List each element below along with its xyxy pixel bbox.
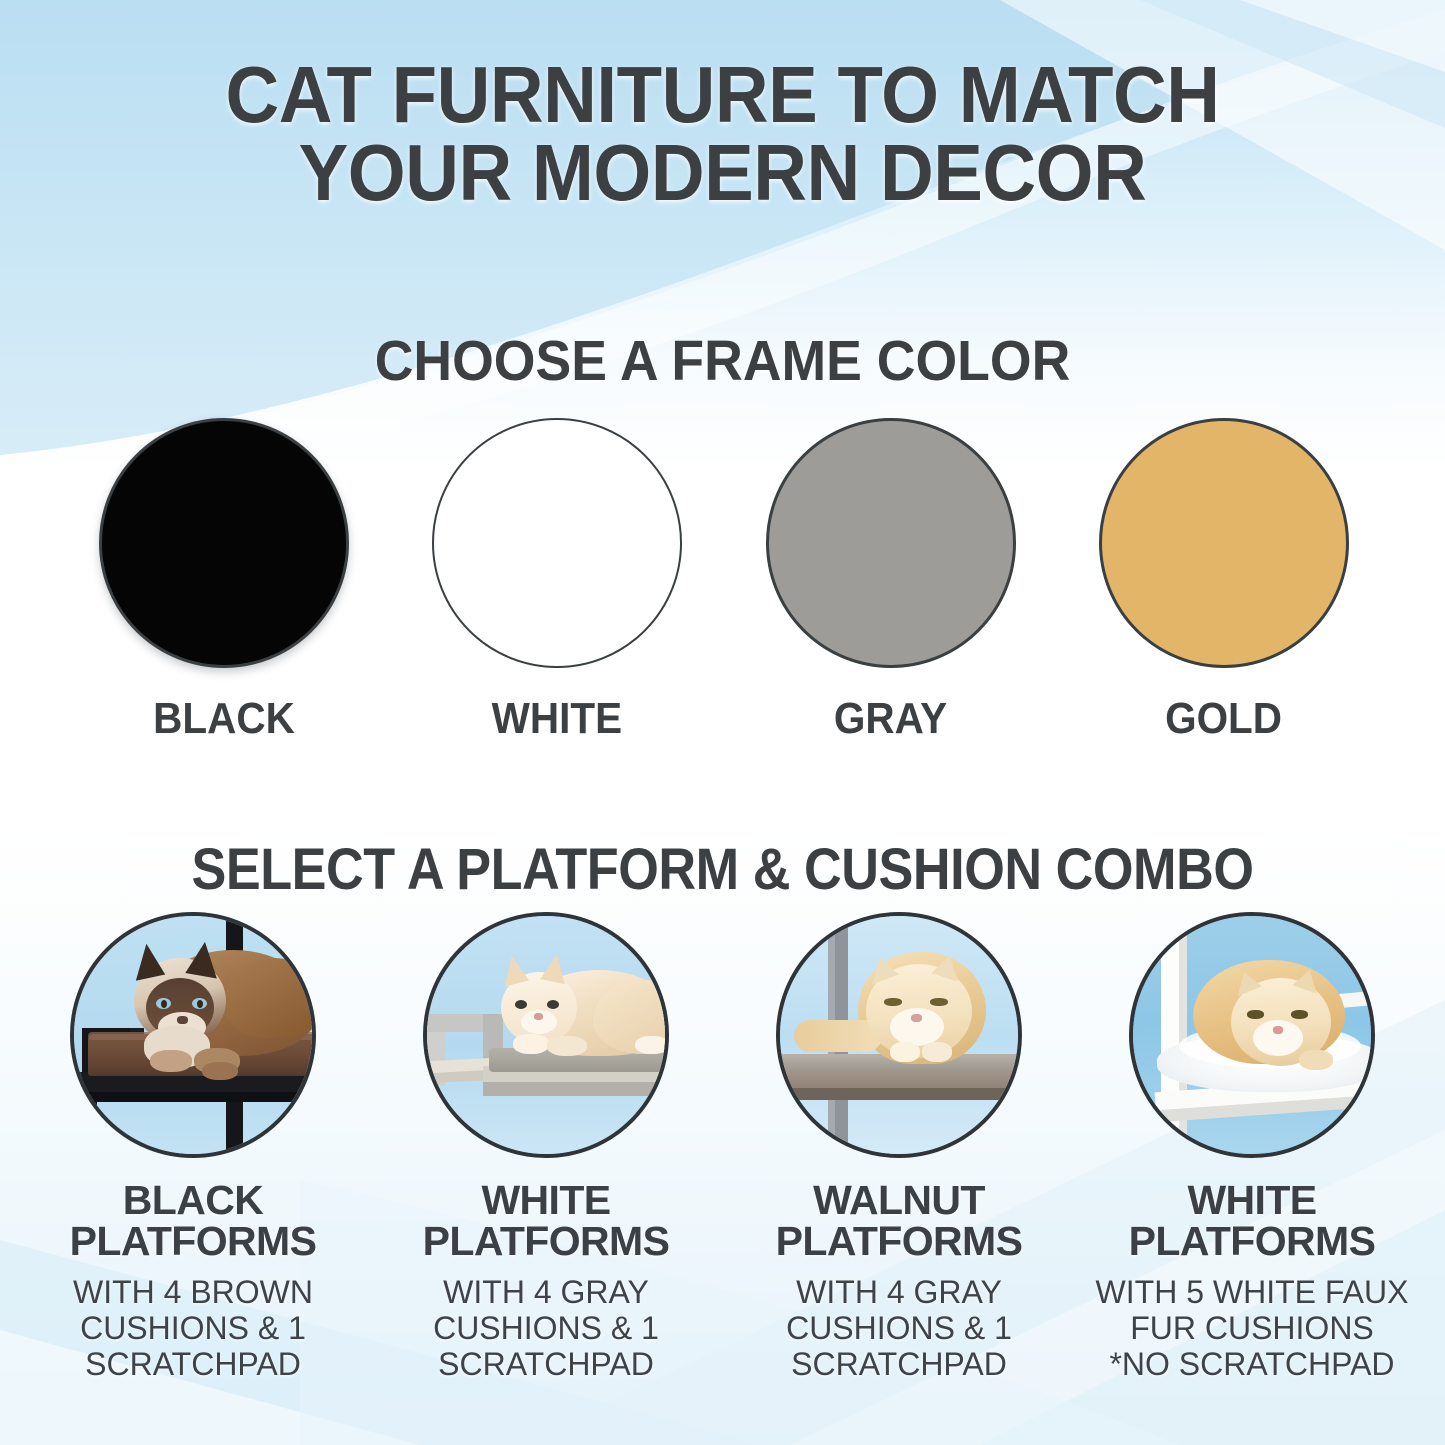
photo-black-platforms[interactable]	[70, 912, 316, 1158]
scene-siamese-on-black-frame	[74, 916, 312, 1154]
frame-color-swatch-row: BLACK WHITE GRAY GOLD	[96, 418, 1352, 744]
page-title: CAT FURNITURE TO MATCH YOUR MODERN DECOR	[51, 56, 1395, 211]
swatch-option-gold[interactable]: GOLD	[1096, 418, 1352, 744]
caption-sub-white-platforms-fur: WITH 5 WHITE FAUX FUR CUSHIONS *NO SCRAT…	[1096, 1275, 1409, 1382]
swatch-option-white[interactable]: WHITE	[429, 418, 685, 744]
page-title-line2: YOUR MODERN DECOR	[51, 134, 1395, 212]
photo-white-platforms-fur[interactable]	[1129, 912, 1375, 1158]
caption-title-white-platforms-gray: WHITE PLATFORMS	[423, 1180, 670, 1261]
caption-sub-line3: *NO SCRATCHPAD	[1096, 1347, 1409, 1383]
caption-title-line2: PLATFORMS	[423, 1221, 670, 1262]
page-title-line1: CAT FURNITURE TO MATCH	[225, 50, 1219, 139]
swatch-dot-white[interactable]	[432, 418, 682, 668]
swatch-dot-gray[interactable]	[766, 418, 1016, 668]
swatch-label-white: WHITE	[492, 694, 622, 744]
caption-title-line2: PLATFORMS	[70, 1221, 317, 1262]
swatch-label-black: BLACK	[153, 694, 295, 744]
caption-sub-line1: WITH 4 GRAY	[433, 1275, 659, 1311]
caption-title-line1: BLACK	[70, 1180, 317, 1221]
caption-title-line2: PLATFORMS	[1129, 1221, 1376, 1262]
caption-sub-line3: SCRATCHPAD	[786, 1347, 1012, 1383]
combo-option-white-platforms-gray[interactable]: WHITE PLATFORMS WITH 4 GRAY CUSHIONS & 1…	[373, 912, 719, 1383]
platform-cushion-row: BLACK PLATFORMS WITH 4 BROWN CUSHIONS & …	[20, 912, 1425, 1383]
swatch-label-gray: GRAY	[834, 694, 947, 744]
combo-option-black-platforms[interactable]: BLACK PLATFORMS WITH 4 BROWN CUSHIONS & …	[20, 912, 366, 1383]
caption-sub-line3: SCRATCHPAD	[433, 1347, 659, 1383]
combo-option-walnut-platforms[interactable]: WALNUT PLATFORMS WITH 4 GRAY CUSHIONS & …	[726, 912, 1072, 1383]
caption-title-line2: PLATFORMS	[776, 1221, 1023, 1262]
swatch-label-gold: GOLD	[1166, 694, 1283, 744]
caption-sub-line1: WITH 5 WHITE FAUX	[1096, 1275, 1409, 1311]
caption-title-black-platforms: BLACK PLATFORMS	[70, 1180, 317, 1261]
swatch-dot-black[interactable]	[99, 418, 349, 668]
caption-title-line1: WHITE	[423, 1180, 670, 1221]
caption-sub-black-platforms: WITH 4 BROWN CUSHIONS & 1 SCRATCHPAD	[73, 1275, 313, 1382]
photo-walnut-platforms[interactable]	[776, 912, 1022, 1158]
swatch-option-black[interactable]: BLACK	[96, 418, 352, 744]
scene-golden-cat-on-faux-fur	[1133, 916, 1371, 1154]
caption-sub-line2: CUSHIONS & 1	[73, 1311, 313, 1347]
platform-cushion-heading: SELECT A PLATFORM & CUSHION COMBO	[72, 836, 1373, 903]
caption-sub-line2: CUSHIONS & 1	[786, 1311, 1012, 1347]
caption-sub-white-platforms-gray: WITH 4 GRAY CUSHIONS & 1 SCRATCHPAD	[433, 1275, 659, 1382]
scene-cream-cat-on-white-frame	[427, 916, 665, 1154]
caption-title-line1: WALNUT	[776, 1180, 1023, 1221]
caption-title-line1: WHITE	[1129, 1180, 1376, 1221]
caption-sub-line2: CUSHIONS & 1	[433, 1311, 659, 1347]
caption-sub-line2: FUR CUSHIONS	[1096, 1311, 1409, 1347]
caption-sub-line1: WITH 4 BROWN	[73, 1275, 313, 1311]
caption-sub-line3: SCRATCHPAD	[73, 1347, 313, 1383]
scene-golden-cat-on-walnut-platform	[780, 916, 1018, 1154]
photo-white-platforms-gray[interactable]	[423, 912, 669, 1158]
combo-option-white-platforms-fur[interactable]: WHITE PLATFORMS WITH 5 WHITE FAUX FUR CU…	[1079, 912, 1425, 1383]
swatch-option-gray[interactable]: GRAY	[763, 418, 1019, 744]
caption-sub-walnut-platforms: WITH 4 GRAY CUSHIONS & 1 SCRATCHPAD	[786, 1275, 1012, 1382]
caption-sub-line1: WITH 4 GRAY	[786, 1275, 1012, 1311]
swatch-dot-gold[interactable]	[1099, 418, 1349, 668]
caption-title-white-platforms-fur: WHITE PLATFORMS	[1129, 1180, 1376, 1261]
caption-title-walnut-platforms: WALNUT PLATFORMS	[776, 1180, 1023, 1261]
frame-color-heading: CHOOSE A FRAME COLOR	[43, 328, 1401, 394]
